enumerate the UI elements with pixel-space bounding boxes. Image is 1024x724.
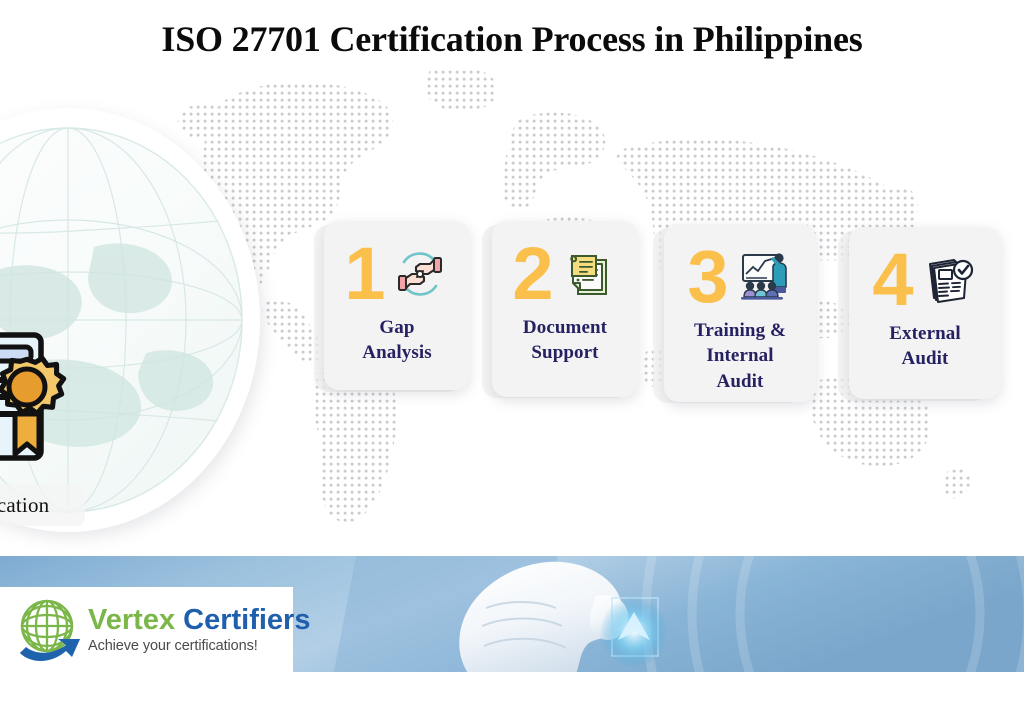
brand-name-space [175, 604, 183, 636]
handshake-teamwork-icon [390, 244, 450, 304]
brand-name-second: Certifiers [183, 604, 310, 636]
step-card-1-header: 1 [324, 235, 470, 313]
step-card-4-label: External Audit [855, 321, 995, 372]
step-card-4[interactable]: 4 [849, 227, 1001, 399]
step-3-label-line1: Training & [670, 318, 810, 343]
step-3-label-line3: Audit [670, 369, 810, 394]
infographic-page: ISO 27701 Certification Process in Phili… [0, 0, 1024, 724]
step-card-3-header: 3 [664, 238, 816, 316]
step-4-label-line2: Audit [855, 346, 995, 371]
step-card-3-label: Training & Internal Audit [670, 318, 810, 394]
step-card-3[interactable]: 3 [664, 224, 816, 402]
step-number-1: 1 [344, 237, 385, 311]
step-1-label-line2: Analysis [330, 340, 464, 365]
document-stack-check-icon [918, 250, 978, 310]
logo-text-block: Vertex Certifiers Achieve your certifica… [88, 605, 310, 653]
brand-name: Vertex Certifiers [88, 604, 310, 636]
certification-badge: Certification [0, 108, 260, 532]
page-title: ISO 27701 Certification Process in Phili… [0, 18, 1024, 60]
step-number-2: 2 [512, 237, 553, 311]
step-card-1[interactable]: 1 Gap [324, 221, 470, 390]
step-card-1-label: Gap Analysis [330, 315, 464, 366]
step-2-label-line2: Support [498, 340, 632, 365]
step-card-2-label: Document Support [498, 315, 632, 366]
step-1-label-line1: Gap [330, 315, 464, 340]
footer-logo[interactable]: Vertex Certifiers Achieve your certifica… [0, 587, 293, 672]
brand-tagline: Achieve your certifications! [88, 638, 310, 654]
step-number-3: 3 [687, 240, 728, 314]
step-3-label-line2: Internal [670, 343, 810, 368]
vertex-globe-arrow-logo [14, 595, 84, 665]
step-number-4: 4 [872, 243, 913, 317]
step-card-4-header: 4 [849, 241, 1001, 319]
step-2-label-line1: Document [498, 315, 632, 340]
certificate-document-icon [0, 314, 77, 474]
documents-icon [558, 244, 618, 304]
badge-label: Certification [0, 484, 85, 526]
brand-name-first: Vertex [88, 604, 175, 636]
step-4-label-line1: External [855, 321, 995, 346]
step-card-2-header: 2 [492, 235, 638, 313]
training-presentation-icon [733, 247, 793, 307]
step-card-2[interactable]: 2 [492, 221, 638, 397]
